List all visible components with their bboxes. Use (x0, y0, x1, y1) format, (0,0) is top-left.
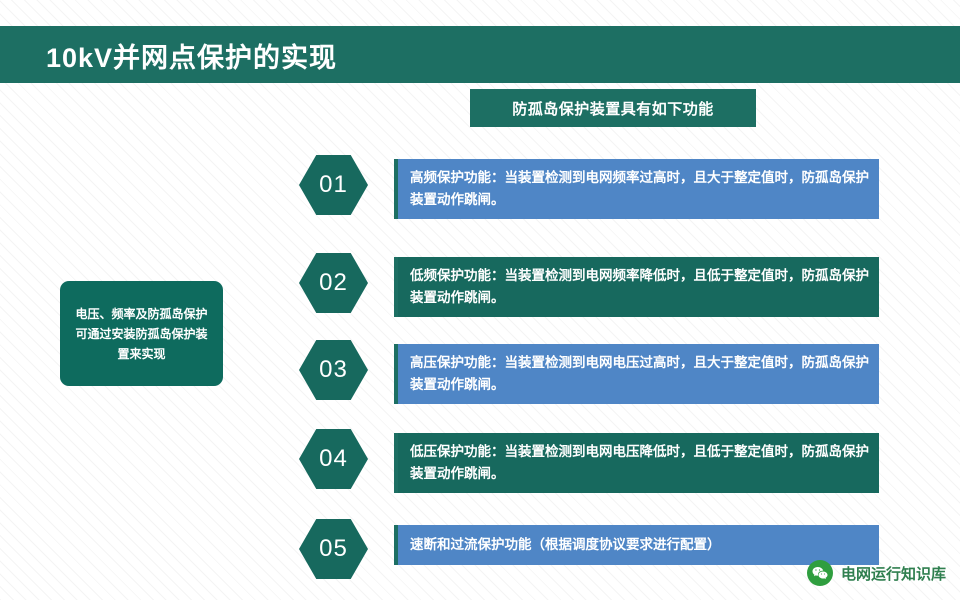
page-title: 10kV并网点保护的实现 (46, 36, 337, 75)
list-item: 01 高频保护功能：当装置检测到电网频率过高时，且大于整定值时，防孤岛保护装置动… (0, 155, 960, 215)
content-text-02: 低频保护功能：当装置检测到电网频率降低时，且低于整定值时，防孤岛保护装置动作跳闸… (410, 265, 869, 309)
step-number: 03 (319, 356, 348, 384)
step-marker-05: 05 (299, 519, 368, 579)
slide-canvas: 10kV并网点保护的实现 防孤岛保护装置具有如下功能 电压、频率及防孤岛保护可通… (0, 0, 960, 600)
content-bar-05: 速断和过流保护功能（根据调度协议要求进行配置） (394, 525, 879, 565)
content-bar-01: 高频保护功能：当装置检测到电网频率过高时，且大于整定值时，防孤岛保护装置动作跳闸… (394, 159, 879, 219)
content-lead-04: 低压保护功能： (410, 444, 505, 459)
content-text-05: 速断和过流保护功能（根据调度协议要求进行配置） (410, 534, 721, 556)
content-bar-03: 高压保护功能：当装置检测到电网电压过高时，且大于整定值时，防孤岛保护装置动作跳闸… (394, 344, 879, 404)
content-text-04: 低压保护功能：当装置检测到电网电压降低时，且低于整定值时，防孤岛保护装置动作跳闸… (410, 441, 869, 485)
header-underline (0, 80, 960, 83)
step-number: 01 (319, 171, 348, 199)
step-number: 05 (319, 535, 348, 563)
step-marker-03: 03 (299, 340, 368, 400)
list-item: 04 低压保护功能：当装置检测到电网电压降低时，且低于整定值时，防孤岛保护装置动… (0, 429, 960, 489)
content-lead-02: 低频保护功能： (410, 268, 505, 283)
step-marker-01: 01 (299, 155, 368, 215)
section-title-box: 防孤岛保护装置具有如下功能 (470, 89, 756, 127)
wechat-icon (807, 560, 833, 586)
watermark-label: 电网运行知识库 (841, 563, 946, 584)
content-bar-02: 低频保护功能：当装置检测到电网频率降低时，且低于整定值时，防孤岛保护装置动作跳闸… (394, 257, 879, 317)
list-item: 02 低频保护功能：当装置检测到电网频率降低时，且低于整定值时，防孤岛保护装置动… (0, 253, 960, 313)
content-lead-05: 速断和过流保护功能 (410, 537, 532, 552)
step-number: 04 (319, 445, 348, 473)
step-number: 02 (319, 269, 348, 297)
content-text-01: 高频保护功能：当装置检测到电网频率过高时，且大于整定值时，防孤岛保护装置动作跳闸… (410, 167, 869, 211)
section-title-label: 防孤岛保护装置具有如下功能 (512, 98, 714, 119)
list-item: 03 高压保护功能：当装置检测到电网电压过高时，且大于整定值时，防孤岛保护装置动… (0, 340, 960, 400)
content-body-05: （根据调度协议要求进行配置） (532, 537, 721, 552)
header-band-accent (0, 26, 14, 80)
content-bar-04: 低压保护功能：当装置检测到电网电压降低时，且低于整定值时，防孤岛保护装置动作跳闸… (394, 433, 879, 493)
watermark: 电网运行知识库 (807, 560, 946, 586)
step-marker-02: 02 (299, 253, 368, 313)
content-lead-01: 高频保护功能： (410, 170, 505, 185)
content-lead-03: 高压保护功能： (410, 355, 505, 370)
content-text-03: 高压保护功能：当装置检测到电网电压过高时，且大于整定值时，防孤岛保护装置动作跳闸… (410, 352, 869, 396)
step-marker-04: 04 (299, 429, 368, 489)
